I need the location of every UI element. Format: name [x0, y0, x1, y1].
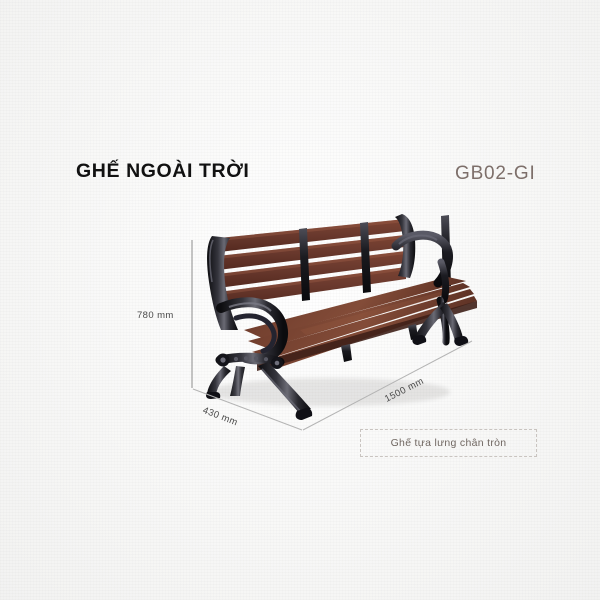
product-caption-box: Ghế tựa lưng chân tròn [360, 429, 537, 457]
dimension-annotations [0, 0, 600, 600]
width-dimension-line [303, 341, 472, 430]
height-dimension-label: 780 mm [137, 310, 174, 321]
product-caption-text: Ghế tựa lưng chân tròn [391, 437, 507, 449]
